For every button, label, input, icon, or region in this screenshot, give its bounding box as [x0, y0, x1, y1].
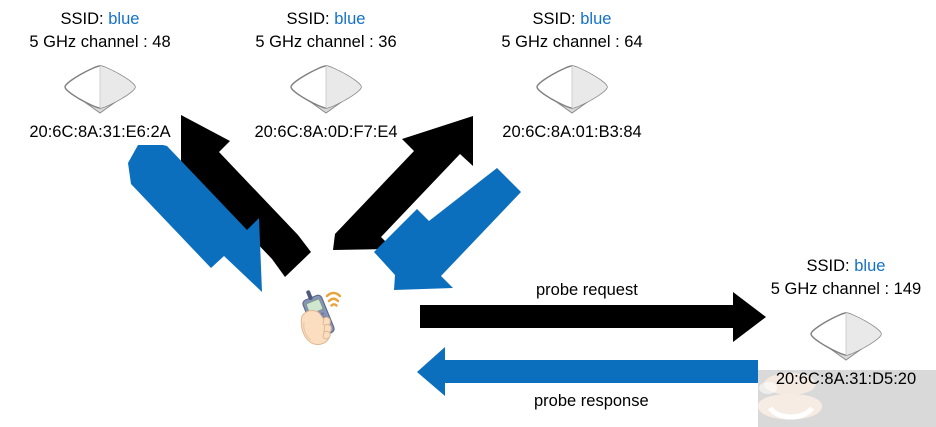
wireless-access-point-icon [283, 61, 369, 119]
arrow-probe-response-horizontal [417, 347, 758, 396]
ap-3-channel-label: 5 GHz channel : 64 [482, 31, 662, 54]
ap-2-ssid-line: SSID: blue [236, 8, 416, 31]
ap-2-mac-label: 20:6C:8A:0D:F7:E4 [236, 123, 416, 143]
ap-2-ssid-label: SSID: [287, 10, 330, 28]
ap-3-mac-label: 20:6C:8A:01:B3:84 [482, 123, 662, 143]
access-point-1: SSID: blue 5 GHz channel : 48 20:6C:8A:3… [10, 8, 190, 143]
ap-4-mac-label: 20:6C:8A:31:D5:20 [756, 370, 936, 390]
ap-2-channel-label: 5 GHz channel : 36 [236, 31, 416, 54]
diagram-canvas: SSID: blue 5 GHz channel : 48 20:6C:8A:3… [0, 0, 936, 427]
access-point-4: SSID: blue 5 GHz channel : 149 20:6C:8A:… [756, 255, 936, 390]
ap-4-ssid-line: SSID: blue [756, 255, 936, 278]
ap-4-ssid-value: blue [854, 257, 885, 275]
ap-1-ssid-line: SSID: blue [10, 8, 190, 31]
probe-request-label: probe request [536, 281, 638, 300]
wireless-access-point-icon [803, 308, 889, 366]
probe-response-label: probe response [534, 392, 649, 411]
wireless-access-point-icon [529, 61, 615, 119]
ap-1-mac-label: 20:6C:8A:31:E6:2A [10, 123, 190, 143]
ap-4-channel-label: 5 GHz channel : 149 [756, 278, 936, 301]
ap-3-ssid-value: blue [580, 10, 611, 28]
access-point-2: SSID: blue 5 GHz channel : 36 20:6C:8A:0… [236, 8, 416, 143]
access-point-3: SSID: blue 5 GHz channel : 64 20:6C:8A:0… [482, 8, 662, 143]
ap-3-ssid-label: SSID: [533, 10, 576, 28]
mobile-phone-in-hand-icon [290, 278, 352, 350]
ap-1-ssid-label: SSID: [61, 10, 104, 28]
ap-1-channel-label: 5 GHz channel : 48 [10, 31, 190, 54]
ap-4-ssid-label: SSID: [807, 257, 850, 275]
ap-3-ssid-line: SSID: blue [482, 8, 662, 31]
wireless-access-point-icon [57, 61, 143, 119]
ap-2-ssid-value: blue [334, 10, 365, 28]
ap-1-ssid-value: blue [108, 10, 139, 28]
